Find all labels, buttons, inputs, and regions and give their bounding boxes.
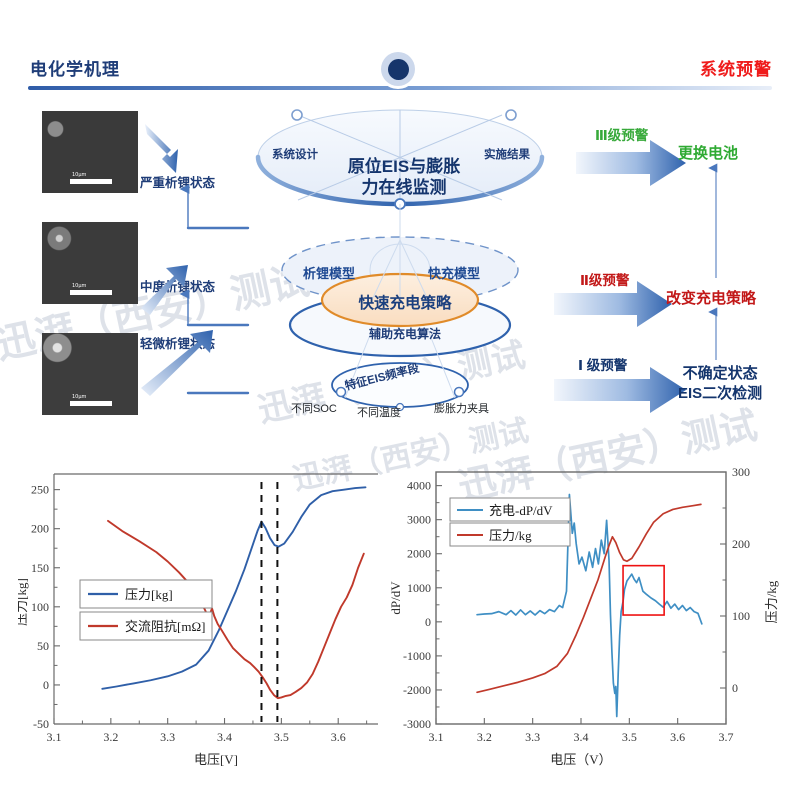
scale-bar xyxy=(70,179,112,184)
header-left-title: 电化学机理 xyxy=(30,55,120,80)
chart-right-xlabel: 电压（V） xyxy=(550,752,611,767)
chart-left: 3.13.23.33.43.53.6-50050100150200250 压力[… xyxy=(18,452,393,782)
state-label-slight: 轻微析锂状态 xyxy=(140,333,215,352)
svg-text:4000: 4000 xyxy=(407,479,431,493)
chart-left-xlabel: 电压[V] xyxy=(194,752,238,767)
label-fast-charge-strategy: 快速充电策略 xyxy=(330,291,480,313)
label-aux-charge-algorithm: 辅助充电算法 xyxy=(330,325,480,342)
svg-text:150: 150 xyxy=(31,561,49,575)
svg-text:压力/kg: 压力/kg xyxy=(489,528,532,543)
svg-text:300: 300 xyxy=(732,465,750,479)
scale-label: 10μm xyxy=(72,394,86,400)
core-title-line1: 原位EIS与膨胀 xyxy=(348,157,460,176)
svg-text:100: 100 xyxy=(31,600,49,614)
warning-level-2: Ⅱ级预警 xyxy=(580,269,629,289)
svg-text:1000: 1000 xyxy=(407,581,431,595)
sem-image-moderate: 10μm xyxy=(42,222,138,304)
label-system-design: 系统设计 xyxy=(272,146,318,162)
scale-label: 10μm xyxy=(72,283,86,289)
chart-left-annotations xyxy=(261,482,277,722)
outcome-line1: 不确定状态 xyxy=(678,364,762,384)
warning-arrow-3 xyxy=(576,140,686,186)
svg-text:2000: 2000 xyxy=(407,547,431,561)
svg-text:200: 200 xyxy=(31,522,49,536)
sem-to-state-arrows xyxy=(141,124,213,396)
svg-text:250: 250 xyxy=(31,483,49,497)
svg-text:0: 0 xyxy=(425,615,431,629)
slide-root: 迅湃（西安）测试 迅湃（西安）测试 迅湃（西安）测试 迅湃（西安）测试 电化学机… xyxy=(0,0,800,800)
svg-text:3.3: 3.3 xyxy=(525,730,540,744)
label-node-temperature: 不同温度 xyxy=(357,404,401,420)
label-eis-frequency-band: 特征EIS频率段 xyxy=(343,360,421,394)
label-node-soc: 不同SOC xyxy=(291,400,337,416)
sem-image-severe: 10μm xyxy=(42,111,138,193)
chart-right-legend: 充电-dP/dV压力/kg xyxy=(450,498,570,546)
chart-left-legend: 压力[kg]交流阻抗[mΩ] xyxy=(80,580,212,640)
svg-text:0: 0 xyxy=(732,681,738,695)
svg-text:50: 50 xyxy=(37,639,49,653)
outcome-change-strategy: 改变充电策略 xyxy=(666,287,756,308)
circle-badge-icon xyxy=(381,52,415,86)
outcome-replace-battery: 更换电池 xyxy=(678,142,738,163)
scale-bar xyxy=(70,290,112,295)
svg-text:100: 100 xyxy=(732,609,750,623)
header-divider xyxy=(28,86,772,90)
chart-left-ylabel: 压力[kg] xyxy=(18,578,29,626)
core-title-line2: 力在线监测 xyxy=(362,178,447,197)
svg-text:-50: -50 xyxy=(33,717,49,731)
chart-right: 3.13.23.33.43.53.63.7-3000-2000-10000100… xyxy=(388,452,788,782)
svg-text:0: 0 xyxy=(43,678,49,692)
warning-level-3: Ⅲ级预警 xyxy=(595,124,648,144)
svg-text:3.5: 3.5 xyxy=(622,730,637,744)
svg-text:3000: 3000 xyxy=(407,513,431,527)
label-node-force-jig: 膨胀力夹具 xyxy=(434,400,489,416)
header-right-title: 系统预警 xyxy=(700,55,772,80)
svg-text:3.4: 3.4 xyxy=(574,730,589,744)
scale-label: 10μm xyxy=(72,172,86,178)
svg-text:3.1: 3.1 xyxy=(47,730,62,744)
svg-text:3.7: 3.7 xyxy=(719,730,734,744)
label-lithium-plating-model: 析锂模型 xyxy=(303,263,355,282)
svg-text:3.6: 3.6 xyxy=(331,730,346,744)
svg-text:3.3: 3.3 xyxy=(160,730,175,744)
svg-text:压力[kg]: 压力[kg] xyxy=(125,587,173,602)
chart-right-y2label: 压力/kg xyxy=(764,580,779,623)
state-label-moderate: 中度析锂状态 xyxy=(140,276,215,295)
state-label-severe: 严重析锂状态 xyxy=(140,172,215,191)
svg-text:-1000: -1000 xyxy=(403,649,431,663)
svg-text:充电-dP/dV: 充电-dP/dV xyxy=(489,503,553,518)
svg-text:200: 200 xyxy=(732,537,750,551)
chart-right-ylabel: dP/dV xyxy=(388,581,403,615)
svg-text:3.6: 3.6 xyxy=(670,730,685,744)
chart-right-annotations xyxy=(623,566,664,615)
outcome-line2: EIS二次检测 xyxy=(678,384,762,404)
svg-text:3.4: 3.4 xyxy=(217,730,232,744)
sem-image-slight: 10μm xyxy=(42,333,138,415)
label-implementation-result: 实施结果 xyxy=(484,146,530,162)
svg-text:3.1: 3.1 xyxy=(429,730,444,744)
outcome-uncertain-state: 不确定状态 EIS二次检测 xyxy=(678,364,762,403)
svg-text:-2000: -2000 xyxy=(403,683,431,697)
label-fast-charge-model: 快充模型 xyxy=(428,263,480,282)
svg-text:3.2: 3.2 xyxy=(103,730,118,744)
svg-text:3.2: 3.2 xyxy=(477,730,492,744)
scale-bar xyxy=(70,401,112,406)
svg-text:-3000: -3000 xyxy=(403,717,431,731)
warning-level-1: Ⅰ 级预警 xyxy=(578,354,627,374)
svg-text:3.5: 3.5 xyxy=(274,730,289,744)
svg-text:交流阻抗[mΩ]: 交流阻抗[mΩ] xyxy=(125,619,205,634)
label-core-title: 原位EIS与膨胀 力在线监测 xyxy=(324,156,484,199)
